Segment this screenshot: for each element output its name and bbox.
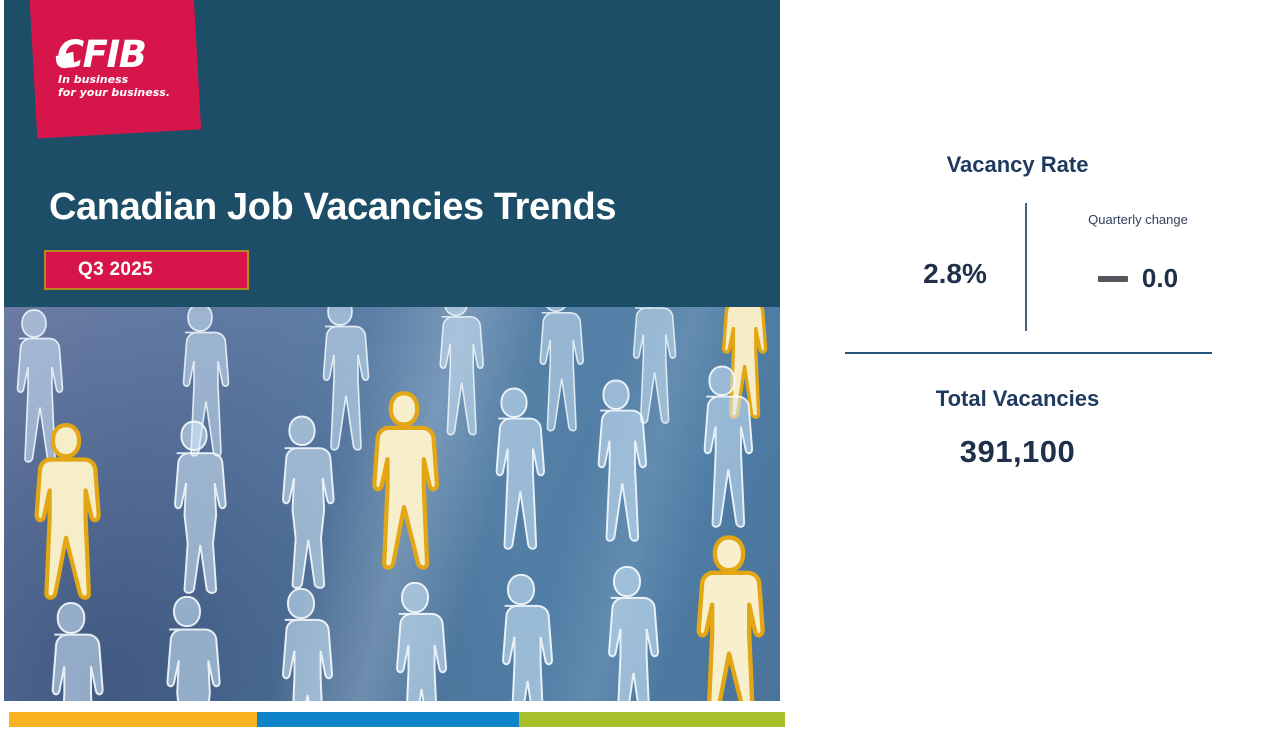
total-vacancies-heading: Total Vacancies — [820, 386, 1215, 412]
figure-silhouette-highlighted — [676, 529, 780, 701]
statistics-panel: Vacancy Rate 2.8% Quarterly change 0.0 T… — [820, 0, 1260, 730]
figure-silhouette-highlighted — [12, 417, 120, 613]
figure-silhouette-highlighted — [694, 307, 780, 435]
figure-silhouette-highlighted — [352, 385, 456, 583]
figure-silhouette — [410, 307, 502, 453]
figure-silhouette — [4, 307, 82, 481]
figure-silhouette — [18, 593, 124, 701]
accent-bar — [9, 712, 785, 727]
cfib-logo-inner: CFIB In business for your business. — [33, 0, 197, 134]
figure-silhouette — [152, 307, 248, 475]
figure-silhouette — [364, 573, 466, 701]
figure-silhouette — [136, 587, 238, 701]
cfib-wordmark: CFIB — [57, 36, 145, 73]
figure-silhouette — [510, 307, 602, 449]
horizontal-divider — [845, 352, 1212, 354]
figure-silhouette — [470, 565, 572, 701]
figure-silhouette — [144, 412, 244, 602]
accent-bar-segment-blue — [257, 712, 519, 727]
vertical-divider — [1025, 203, 1027, 331]
figure-silhouette — [604, 307, 694, 441]
figure-silhouette — [672, 357, 772, 547]
figure-silhouette — [252, 407, 352, 597]
vacancy-rate-value: 2.8% — [875, 258, 1035, 290]
flat-trend-icon — [1098, 276, 1128, 282]
accent-bar-segment-yellow — [9, 712, 257, 727]
period-badge: Q3 2025 — [44, 250, 249, 290]
accent-bar-segment-green — [519, 712, 785, 727]
cfib-tagline: In business for your business. — [58, 73, 170, 99]
people-grid-illustration — [4, 307, 780, 701]
page-title: Canadian Job Vacancies Trends — [49, 186, 616, 229]
header-band: CFIB In business for your business. Cana… — [4, 0, 780, 307]
figure-silhouette — [292, 307, 388, 469]
quarterly-change-label: Quarterly change — [1048, 212, 1228, 227]
quarterly-change-value: 0.0 — [1142, 263, 1178, 294]
figure-silhouette — [464, 379, 564, 569]
quarterly-change-row: 0.0 — [1048, 263, 1228, 294]
cfib-logo: CFIB In business for your business. — [29, 0, 201, 138]
figure-silhouette — [250, 579, 352, 701]
report-cover-panel: CFIB In business for your business. Cana… — [4, 0, 780, 730]
total-vacancies-value: 391,100 — [820, 434, 1215, 470]
figure-silhouette — [566, 371, 666, 561]
figure-silhouette — [576, 557, 678, 701]
vacancy-rate-heading: Vacancy Rate — [820, 152, 1215, 178]
